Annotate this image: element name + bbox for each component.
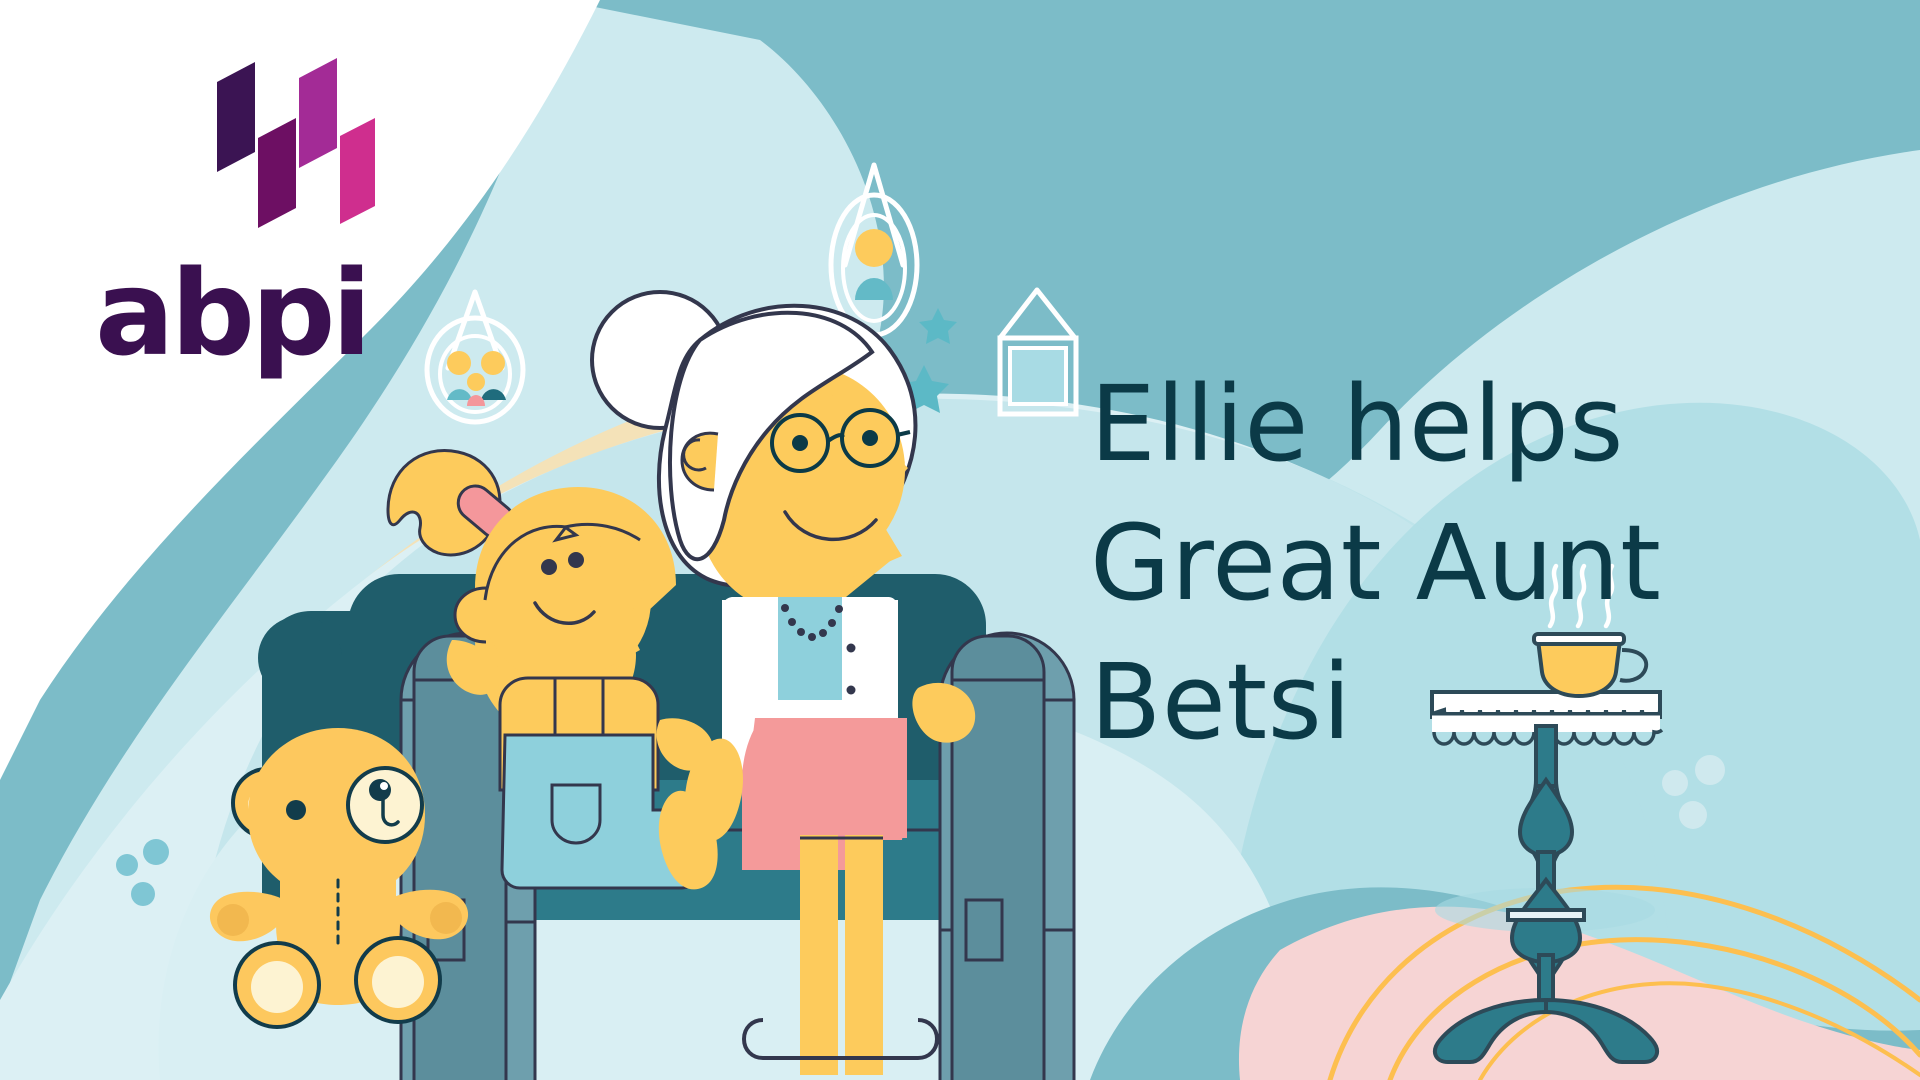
logo-chevron-1 xyxy=(217,62,255,172)
title-line-3: Betsi xyxy=(1090,633,1790,772)
granny-top xyxy=(778,597,842,700)
teddy-eye-patch xyxy=(348,768,422,842)
granny-eye-left xyxy=(792,435,808,451)
abpi-logo[interactable]: abpi xyxy=(95,40,375,372)
logo-chevron-3 xyxy=(299,58,337,168)
girl-eye-right xyxy=(568,552,584,568)
logo-chevron-4 xyxy=(340,118,375,224)
table-collar xyxy=(1508,910,1584,920)
girl-eye-left xyxy=(541,559,557,575)
title-line-2: Great Aunt xyxy=(1090,494,1790,633)
teddy-eye-right xyxy=(369,779,391,801)
sofa-leg-right xyxy=(966,900,1002,960)
granny-eye-right xyxy=(862,430,878,446)
title-line-1: Ellie helps xyxy=(1090,355,1790,494)
granny-leg-left xyxy=(800,835,838,1075)
poster-title: Ellie helps Great Aunt Betsi xyxy=(1090,355,1790,772)
granny-leg-right xyxy=(845,835,883,1075)
portrait-head xyxy=(855,229,893,267)
teddy-eye-left xyxy=(286,800,306,820)
poster-canvas: abpi Ellie helps Great Aunt Betsi xyxy=(0,0,1920,1080)
logo-chevron-2 xyxy=(258,118,296,228)
abpi-wordmark: abpi xyxy=(95,254,375,372)
abpi-logo-mark xyxy=(95,40,375,250)
